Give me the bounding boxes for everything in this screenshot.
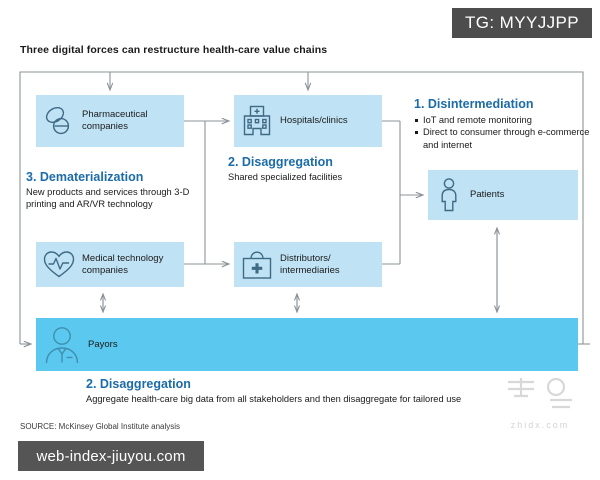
force-bullet: Direct to consumer through e-commerce an… bbox=[414, 126, 594, 151]
source-note: SOURCE: McKinsey Global Institute analys… bbox=[20, 422, 180, 431]
pills-icon bbox=[36, 105, 82, 137]
site-watermark-banner: web-index-jiuyou.com bbox=[18, 441, 204, 471]
page-title: Three digital forces can restructure hea… bbox=[20, 44, 327, 56]
person-icon bbox=[428, 177, 470, 213]
node-label: Payors bbox=[88, 339, 118, 351]
force-heading: 2. Disaggregation bbox=[228, 155, 408, 170]
heart-pulse-icon bbox=[36, 249, 82, 280]
force-dematerialization: 3. Dematerialization New products and se… bbox=[26, 170, 206, 211]
node-label: Patients bbox=[470, 189, 504, 201]
tg-watermark-tag: TG: MYYJJPP bbox=[452, 8, 592, 38]
node-pharmaceutical-companies[interactable]: Pharmaceuticalcompanies bbox=[36, 95, 184, 147]
zhidx-watermark: zhidx.com bbox=[494, 374, 586, 430]
node-label: Distributors/intermediaries bbox=[280, 253, 340, 277]
diagram-canvas: TG: MYYJJPP Three digital forces can res… bbox=[0, 0, 600, 480]
node-label: Pharmaceuticalcompanies bbox=[82, 109, 147, 133]
node-hospitals-clinics[interactable]: Hospitals/clinics bbox=[234, 95, 382, 147]
force-disaggregation-bottom: 2. Disaggregation Aggregate health-care … bbox=[86, 377, 556, 405]
node-label: Medical technologycompanies bbox=[82, 253, 163, 277]
force-disaggregation-top: 2. Disaggregation Shared specialized fac… bbox=[228, 155, 408, 183]
force-bullet-list: IoT and remote monitoring Direct to cons… bbox=[414, 114, 594, 151]
zhidx-watermark-text: zhidx.com bbox=[494, 420, 586, 430]
hospital-icon bbox=[234, 104, 280, 138]
force-heading: 3. Dematerialization bbox=[26, 170, 206, 185]
medical-kit-icon bbox=[234, 249, 280, 281]
node-payors[interactable]: Payors bbox=[36, 318, 578, 371]
force-heading: 1. Disintermediation bbox=[414, 97, 594, 112]
force-subtext: Shared specialized facilities bbox=[228, 171, 408, 183]
node-distributors-intermediaries[interactable]: Distributors/intermediaries bbox=[234, 242, 382, 287]
node-patients[interactable]: Patients bbox=[428, 170, 578, 220]
force-subtext: New products and services through 3-D pr… bbox=[26, 186, 206, 211]
force-disintermediation: 1. Disintermediation IoT and remote moni… bbox=[414, 97, 594, 151]
force-bullet: IoT and remote monitoring bbox=[414, 114, 594, 126]
node-label: Hospitals/clinics bbox=[280, 115, 348, 127]
force-heading: 2. Disaggregation bbox=[86, 377, 556, 392]
force-subtext: Aggregate health-care big data from all … bbox=[86, 393, 556, 405]
person-tie-icon bbox=[36, 324, 88, 366]
node-medical-technology-companies[interactable]: Medical technologycompanies bbox=[36, 242, 184, 287]
